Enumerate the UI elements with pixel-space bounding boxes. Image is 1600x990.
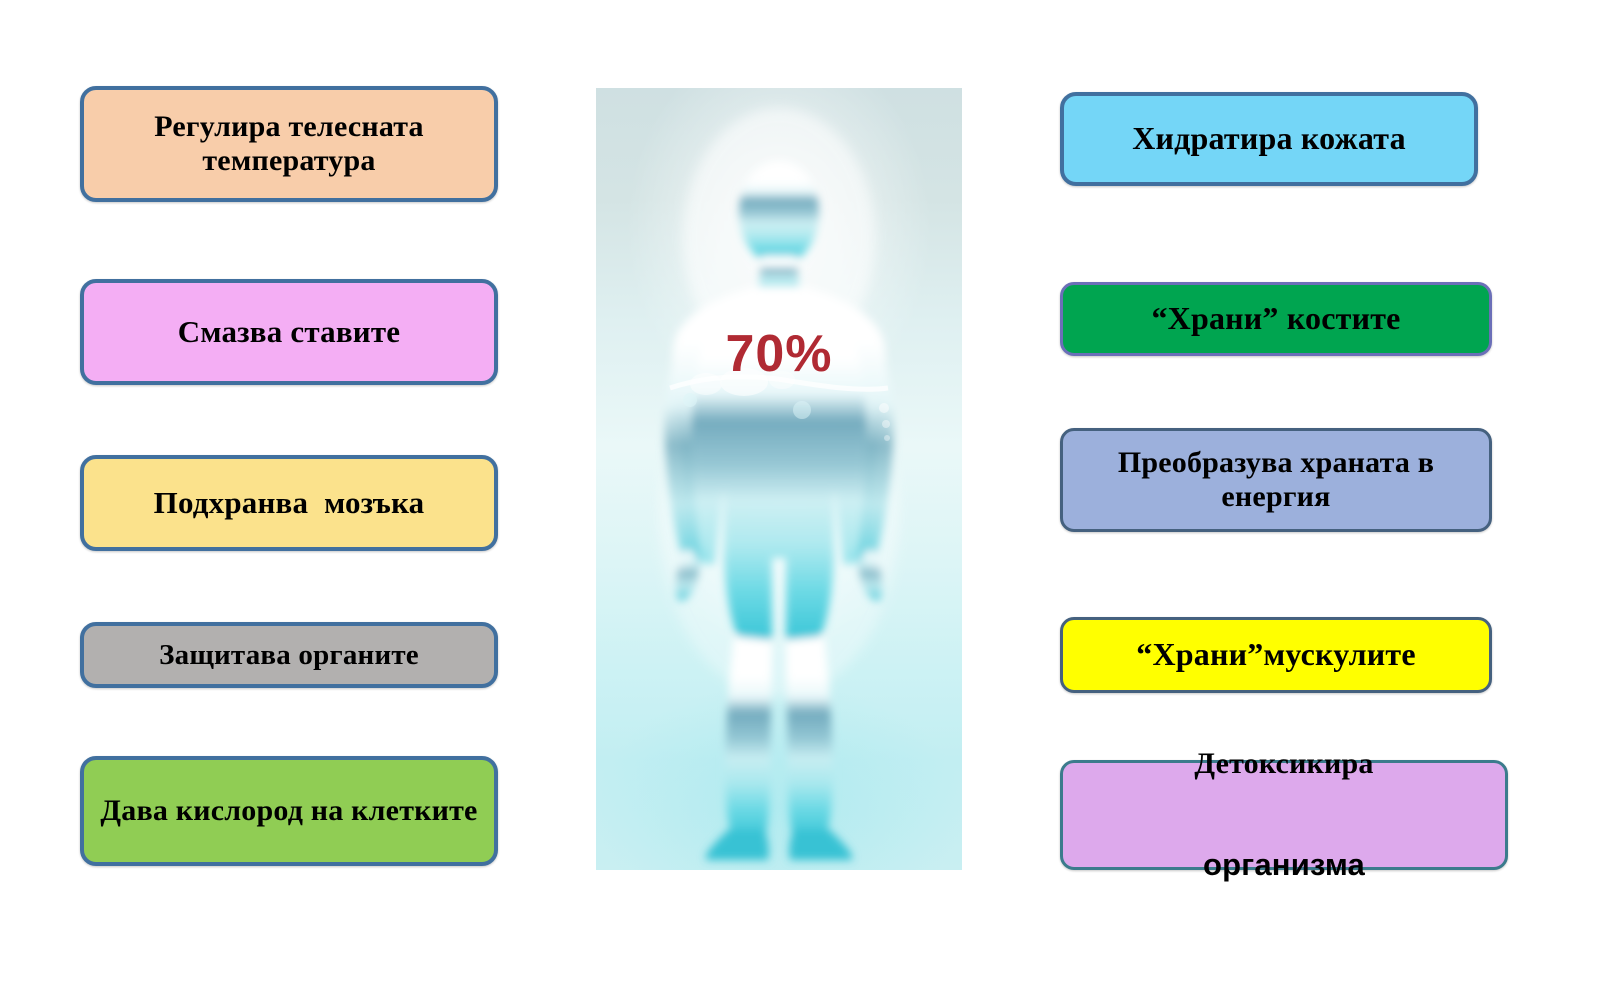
callout-regulates-body-temperature[interactable]: Регулира телесната температура	[80, 86, 498, 202]
callout-lubricates-joints[interactable]: Смазва ставите	[80, 279, 498, 385]
slide-canvas: Регулира телесната температура Смазва ст…	[0, 0, 1600, 990]
callout-gives-oxygen-to-cells[interactable]: Дава кислород на клетките	[80, 756, 498, 866]
callout-label: Защитава органите	[94, 639, 484, 671]
callout-label: Преобразува храната в енергия	[1073, 446, 1479, 513]
callout-label: Регулира телесната температура	[94, 110, 484, 177]
water-percent-label: 70%	[596, 324, 962, 384]
callout-label: “Храни”мускулите	[1073, 637, 1479, 673]
callout-label: Детоксикира организма	[1073, 680, 1495, 950]
callout-label: “Храни” костите	[1073, 301, 1479, 337]
callout-label-line1: Детоксикира	[1073, 747, 1495, 781]
callout-label: Смазва ставите	[94, 315, 484, 350]
callout-label-line2: организма	[1073, 848, 1495, 883]
callout-hydrates-skin[interactable]: Хидратира кожата	[1060, 92, 1478, 186]
callout-protects-organs[interactable]: Защитава органите	[80, 622, 498, 688]
callout-converts-food-to-energy[interactable]: Преобразува храната в енергия	[1060, 428, 1492, 532]
callout-detoxifies-organism[interactable]: Детоксикира организма	[1060, 760, 1508, 870]
callout-feeds-bones[interactable]: “Храни” костите	[1060, 282, 1492, 356]
body-silhouette-icon	[596, 88, 962, 870]
human-body-water-illustration: 70%	[596, 88, 962, 870]
callout-label: Дава кислород на клетките	[94, 794, 484, 828]
callout-nourishes-brain[interactable]: Подхранва мозъка	[80, 455, 498, 551]
callout-label: Подхранва мозъка	[94, 486, 484, 521]
callout-label: Хидратира кожата	[1074, 121, 1464, 157]
